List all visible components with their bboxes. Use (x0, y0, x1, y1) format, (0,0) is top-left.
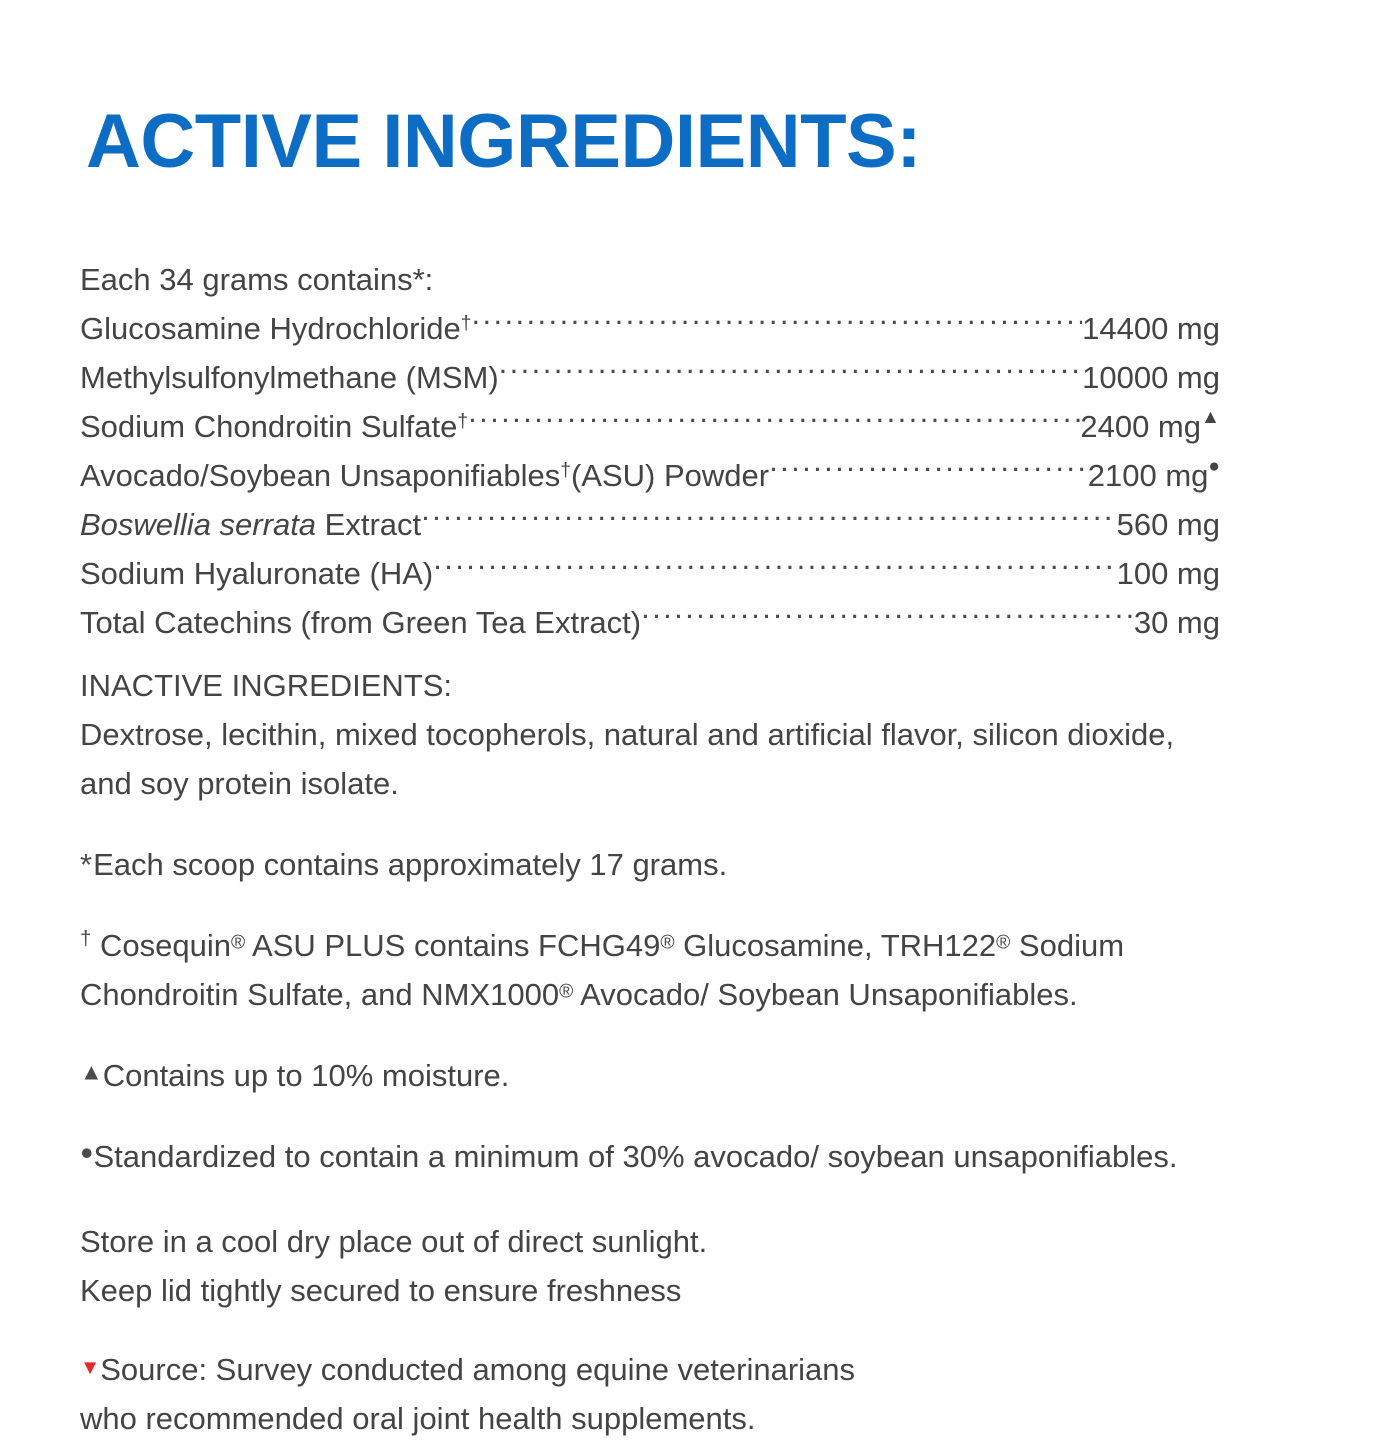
page-title: ACTIVE INGREDIENTS: (86, 104, 921, 180)
active-ingredient-list: Glucosamine Hydrochloride† 14400 mg Meth… (80, 304, 1220, 647)
ingredient-value: 2100 mg● (1088, 451, 1220, 500)
ingredient-value-text: 30 mg (1134, 605, 1220, 640)
ingredient-row: Sodium Chondroitin Sulfate† 2400 mg▲ (80, 402, 1220, 451)
ingredient-name-suffix: Extract (316, 507, 421, 542)
ingredient-value-text: 10000 mg (1082, 360, 1220, 395)
footnote-dagger-part1: Cosequin (91, 928, 231, 963)
dot-leader (421, 504, 1116, 535)
registered-trademark-icon: ® (231, 933, 245, 954)
dot-leader (471, 308, 1082, 339)
ingredient-value-text: 100 mg (1117, 556, 1220, 591)
triangle-marker-icon: ▲ (80, 1059, 103, 1085)
ingredient-name: Total Catechins (from Green Tea Extract) (80, 598, 641, 647)
ingredient-name-text: Total Catechins (from Green Tea Extract) (80, 605, 641, 640)
ingredient-name: Avocado/Soybean Unsaponifiables†(ASU) Po… (80, 451, 769, 500)
footnote-dagger-part3: Glucosamine, TRH122 (675, 928, 997, 963)
ingredient-name-text: Methylsulfonylmethane (MSM) (80, 360, 499, 395)
ingredient-value: 100 mg (1117, 549, 1220, 598)
ingredient-name-text: Glucosamine Hydrochloride (80, 311, 461, 346)
storage-instructions: Store in a cool dry place out of direct … (80, 1217, 1320, 1315)
red-down-triangle-icon: ▼ (80, 1356, 100, 1379)
supplement-label-panel: ACTIVE INGREDIENTS: Each 34 grams contai… (0, 0, 1400, 1400)
ingredient-name-text: Avocado/Soybean Unsaponifiables (80, 458, 560, 493)
circle-marker-icon: ● (1208, 456, 1220, 477)
footnote-dagger-part2: ASU PLUS contains FCHG49 (245, 928, 660, 963)
source-line-1: ▼Source: Survey conducted among equine v… (80, 1345, 1320, 1394)
footnote-moisture: ▲Contains up to 10% moisture. (80, 1051, 1260, 1100)
dagger-marker-icon: † (560, 460, 571, 481)
source-line-2: who recommended oral joint health supple… (80, 1394, 1320, 1443)
circle-marker-icon: ● (80, 1139, 93, 1164)
dagger-marker-icon: † (461, 313, 472, 334)
registered-trademark-icon: ® (996, 933, 1010, 954)
footnote-standardized-text: Standardized to contain a minimum of 30%… (93, 1139, 1177, 1174)
serving-intro-line: Each 34 grams contains*: (80, 255, 1320, 304)
ingredient-scientific-name: Boswellia serrata (80, 507, 316, 542)
ingredient-name-text: Sodium Chondroitin Sulfate (80, 409, 457, 444)
ingredient-value-text: 560 mg (1117, 507, 1220, 542)
ingredient-value: 30 mg (1134, 598, 1220, 647)
label-body: Each 34 grams contains*: Glucosamine Hyd… (80, 255, 1320, 1443)
dot-leader (433, 553, 1116, 584)
dot-leader (641, 602, 1134, 633)
ingredient-name: Boswellia serrata Extract (80, 500, 421, 549)
ingredient-value: 560 mg (1117, 500, 1220, 549)
triangle-marker-icon: ▲ (1201, 407, 1220, 428)
footnote-moisture-text: Contains up to 10% moisture. (103, 1058, 510, 1093)
ingredient-value-text: 2100 mg (1088, 458, 1209, 493)
ingredient-value: 14400 mg (1082, 304, 1220, 353)
ingredient-name-text: Sodium Hyaluronate (HA) (80, 556, 433, 591)
footnote-dagger-part5: Avocado/ Soybean Unsaponifiables. (573, 977, 1077, 1012)
ingredient-value-text: 2400 mg (1080, 409, 1201, 444)
ingredient-row: Methylsulfonylmethane (MSM) 10000 mg (80, 353, 1220, 402)
ingredient-name: Sodium Chondroitin Sulfate† (80, 402, 468, 451)
footnote-scoop: *Each scoop contains approximately 17 gr… (80, 840, 1260, 889)
dagger-marker-icon: † (80, 927, 91, 950)
dot-leader (499, 357, 1082, 388)
ingredient-name: Methylsulfonylmethane (MSM) (80, 353, 499, 402)
ingredient-value: 2400 mg▲ (1080, 402, 1220, 451)
dot-leader (468, 406, 1080, 437)
dot-leader (769, 455, 1088, 486)
registered-trademark-icon: ® (559, 982, 573, 1003)
inactive-ingredients-heading: INACTIVE INGREDIENTS: (80, 661, 1320, 710)
ingredient-row: Glucosamine Hydrochloride† 14400 mg (80, 304, 1220, 353)
ingredient-name: Glucosamine Hydrochloride† (80, 304, 471, 353)
ingredient-row: Total Catechins (from Green Tea Extract)… (80, 598, 1220, 647)
asterisk-marker-icon: * (80, 847, 93, 882)
registered-trademark-icon: ® (660, 933, 674, 954)
ingredient-value-text: 14400 mg (1082, 311, 1220, 346)
footnote-scoop-text: Each scoop contains approximately 17 gra… (93, 847, 727, 882)
ingredient-row: Avocado/Soybean Unsaponifiables†(ASU) Po… (80, 451, 1220, 500)
source-note: ▼Source: Survey conducted among equine v… (80, 1345, 1320, 1443)
storage-line-2: Keep lid tightly secured to ensure fresh… (80, 1266, 1320, 1315)
ingredient-name: Sodium Hyaluronate (HA) (80, 549, 433, 598)
ingredient-row: Boswellia serrata Extract 560 mg (80, 500, 1220, 549)
source-line-1-text: Source: Survey conducted among equine ve… (100, 1352, 855, 1387)
footnote-standardized: ●Standardized to contain a minimum of 30… (80, 1132, 1260, 1181)
inactive-ingredients-text: Dextrose, lecithin, mixed tocopherols, n… (80, 710, 1215, 808)
dagger-marker-icon: † (457, 411, 468, 432)
ingredient-name-suffix: (ASU) Powder (571, 458, 769, 493)
storage-line-1: Store in a cool dry place out of direct … (80, 1217, 1320, 1266)
ingredient-value: 10000 mg (1082, 353, 1220, 402)
ingredient-row: Sodium Hyaluronate (HA) 100 mg (80, 549, 1220, 598)
footnote-dagger: † Cosequin® ASU PLUS contains FCHG49® Gl… (80, 921, 1260, 1019)
